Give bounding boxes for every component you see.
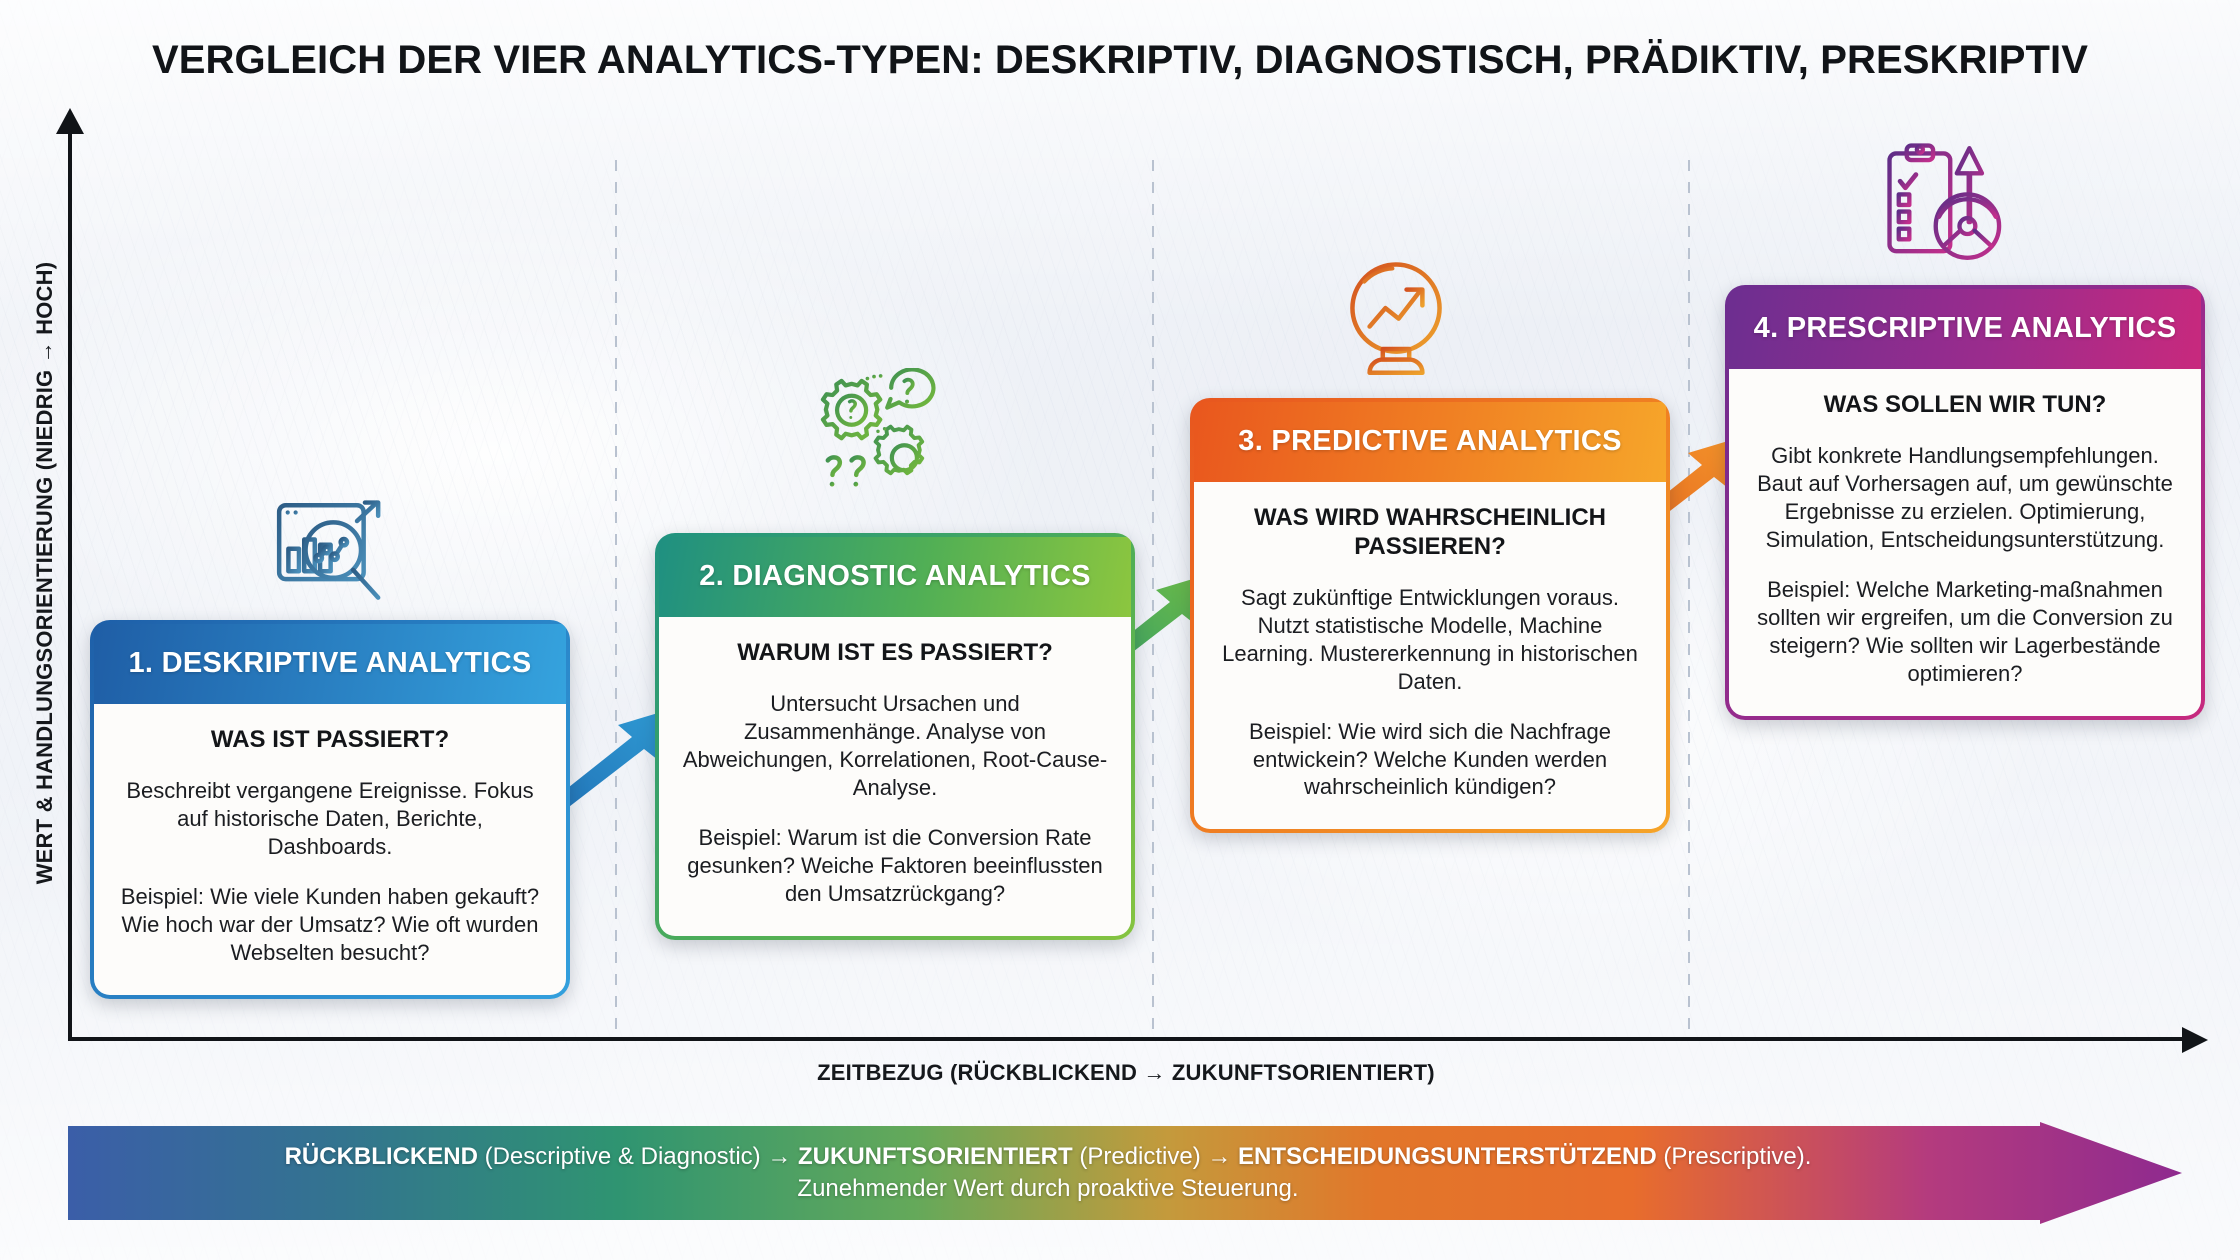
y-axis-label: WERT & HANDLUNGSORIENTIERUNG (NIEDRIG → … [32, 143, 58, 1003]
card-diagnostic-body: WARUM IST ES PASSIERT? Untersucht Ursach… [659, 617, 1131, 935]
banner-seg-prescriptive: (Prescriptive). [1657, 1143, 1812, 1170]
card-prescriptive-analytics[interactable]: 4. PRESCRIPTIVE ANALYTICS WAS SOLLEN WIR… [1725, 285, 2205, 720]
banner-seg-entscheidungsunterstuetzend: ENTSCHEIDUNGSUNTERSTÜTZEND [1238, 1143, 1657, 1170]
x-axis-label: ZEITBEZUG (RÜCKBLICKEND → ZUKUNFTSORIENT… [68, 1060, 2184, 1086]
card-prescriptive-example: Beispiel: Welche Marketing-maßnahmen sol… [1751, 576, 2179, 688]
card-descriptive-analytics[interactable]: 1. DESKRIPTIVE ANALYTICS WAS IST PASSIER… [90, 620, 570, 999]
card-predictive-body: WAS WIRD WAHRSCHEINLICH PASSIEREN? Sagt … [1194, 482, 1666, 829]
card-diagnostic-example: Beispiel: Warum ist die Conversion Rate … [681, 824, 1109, 908]
column-separator-3 [1688, 160, 1690, 1037]
x-axis-line [68, 1037, 2184, 1041]
card-prescriptive-question: WAS SOLLEN WIR TUN? [1751, 391, 2179, 420]
card-predictive-analytics[interactable]: 3. PREDICTIVE ANALYTICS WAS WIRD WAHRSCH… [1190, 398, 1670, 833]
x-axis-arrowhead [2182, 1027, 2208, 1053]
page-title: VERGLEICH DER VIER ANALYTICS-TYPEN: DESK… [0, 38, 2240, 83]
banner-seg-zukunftsorientiert: ZUKUNFTSORIENTIERT [798, 1143, 1073, 1170]
card-descriptive-body: WAS IST PASSIERT? Beschreibt vergangene … [94, 704, 566, 994]
y-axis-line [68, 128, 72, 1041]
card-prescriptive-body: WAS SOLLEN WIR TUN? Gibt konkrete Handlu… [1729, 369, 2201, 715]
banner-seg-rueckblickend: RÜCKBLICKEND [285, 1143, 478, 1170]
summary-banner-text: RÜCKBLICKEND (Descriptive & Diagnostic) … [68, 1122, 2048, 1224]
card-diagnostic-header: 2. DIAGNOSTIC ANALYTICS [659, 537, 1131, 617]
card-diagnostic-description: Untersucht Ursachen und Zusammenhänge. A… [681, 690, 1109, 802]
clipboard-steering-arrow-icon [1875, 135, 2007, 267]
banner-seg-descriptive-diagnostic: (Descriptive & Diagnostic) → [478, 1143, 798, 1170]
y-axis-arrowhead [56, 108, 84, 134]
card-predictive-question: WAS WIRD WAHRSCHEINLICH PASSIEREN? [1216, 504, 1644, 562]
card-predictive-header: 3. PREDICTIVE ANALYTICS [1194, 402, 1666, 482]
card-prescriptive-description: Gibt konkrete Handlungsempfehlungen. Bau… [1751, 442, 2179, 554]
card-descriptive-question: WAS IST PASSIERT? [116, 726, 544, 755]
card-predictive-description: Sagt zukünftige Entwicklungen voraus. Nu… [1216, 584, 1644, 696]
column-separator-1 [615, 160, 617, 1037]
crystal-ball-trend-icon [1330, 250, 1462, 382]
card-descriptive-header: 1. DESKRIPTIVE ANALYTICS [94, 624, 566, 704]
card-prescriptive-header: 4. PRESCRIPTIVE ANALYTICS [1729, 289, 2201, 369]
card-diagnostic-analytics[interactable]: 2. DIAGNOSTIC ANALYTICS WARUM IST ES PAS… [655, 533, 1135, 940]
card-predictive-example: Beispiel: Wie wird sich die Nachfrage en… [1216, 718, 1644, 802]
gears-question-icon [812, 368, 944, 500]
summary-banner-line-1: RÜCKBLICKEND (Descriptive & Diagnostic) … [285, 1141, 1812, 1173]
card-descriptive-example: Beispiel: Wie viele Kunden haben gekauft… [116, 883, 544, 967]
banner-seg-predictive: (Predictive) → [1073, 1143, 1238, 1170]
card-descriptive-description: Beschreibt vergangene Ereignisse. Fokus … [116, 777, 544, 861]
summary-banner-line-2: Zunehmender Wert durch proaktive Steueru… [797, 1173, 1298, 1205]
card-diagnostic-question: WARUM IST ES PASSIERT? [681, 639, 1109, 668]
summary-banner: RÜCKBLICKEND (Descriptive & Diagnostic) … [68, 1122, 2182, 1224]
dashboard-magnifier-icon [262, 492, 394, 624]
